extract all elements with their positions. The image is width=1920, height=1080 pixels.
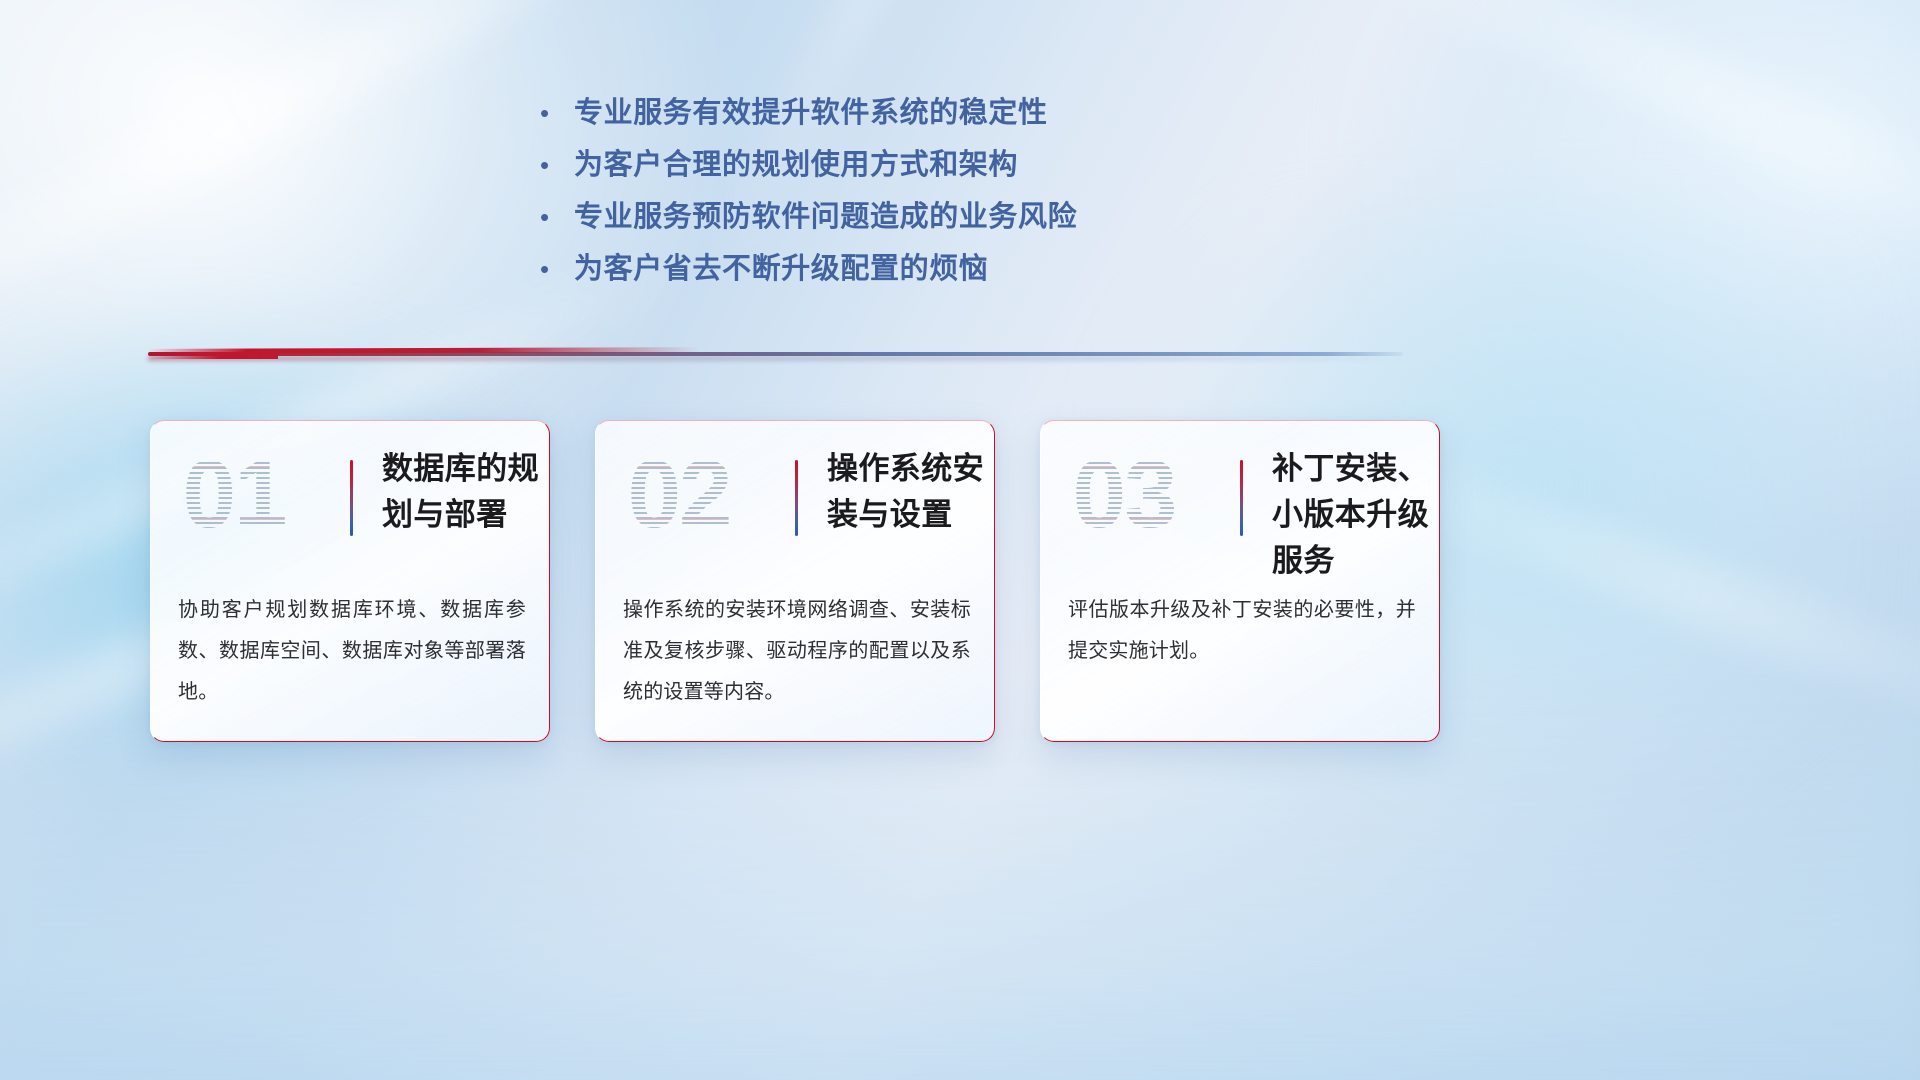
card-number-watermark: 01 01 [168,440,300,550]
bullet-marker-icon: • [540,90,574,136]
card-title: 数据库的规划与部署 [382,446,542,538]
card-description: 协助客户规划数据库环境、数据库参数、数据库空间、数据库对象等部署落地。 [178,590,526,713]
card-title-divider [350,460,353,536]
divider-shadow [148,356,1403,361]
list-item: • 专业服务有效提升软件系统的稳定性 [540,90,1360,142]
card-description: 操作系统的安装环境网络调查、安装标准及复核步骤、驱动程序的配置以及系统的设置等内… [623,590,971,713]
list-item-label: 为客户合理的规划使用方式和架构 [574,142,1018,188]
list-item: • 专业服务预防软件问题造成的业务风险 [540,194,1360,246]
service-card[interactable]: 03 03 补丁安装、小版本升级服务 评估版本升级及补丁安装的必要性，并提交实施… [1040,420,1440,742]
service-card-group: 01 01 数据库的规划与部署 协助客户规划数据库环境、数据库参数、数据库空间、… [150,420,1440,742]
service-card-surface: 02 02 操作系统安装与设置 操作系统的安装环境网络调查、安装标准及复核步骤、… [595,420,995,742]
service-card-header: 03 03 补丁安装、小版本升级服务 [1040,420,1440,580]
card-number-red-stripes: 02 [613,440,745,550]
card-title: 操作系统安装与设置 [827,446,987,538]
service-card-header: 01 01 数据库的规划与部署 [150,420,550,580]
list-item-label: 为客户省去不断升级配置的烦恼 [574,246,988,292]
card-number-watermark: 02 02 [613,440,745,550]
bullet-marker-icon: • [540,142,574,188]
bullet-marker-icon: • [540,246,574,292]
list-item-label: 专业服务预防软件问题造成的业务风险 [574,194,1077,240]
service-card-surface: 03 03 补丁安装、小版本升级服务 评估版本升级及补丁安装的必要性，并提交实施… [1040,420,1440,742]
card-title: 补丁安装、小版本升级服务 [1272,446,1432,584]
section-divider [148,348,1403,362]
bullet-marker-icon: • [540,194,574,240]
card-description: 评估版本升级及补丁安装的必要性，并提交实施计划。 [1068,590,1416,672]
card-title-divider [795,460,798,536]
list-item-label: 专业服务有效提升软件系统的稳定性 [574,90,1048,136]
card-number-red-stripes: 01 [168,440,300,550]
service-card-header: 02 02 操作系统安装与设置 [595,420,995,580]
service-card[interactable]: 01 01 数据库的规划与部署 协助客户规划数据库环境、数据库参数、数据库空间、… [150,420,550,742]
card-title-divider [1240,460,1243,536]
card-number-red-stripes: 03 [1058,440,1190,550]
card-number-watermark: 03 03 [1058,440,1190,550]
list-item: • 为客户省去不断升级配置的烦恼 [540,246,1360,298]
list-item: • 为客户合理的规划使用方式和架构 [540,142,1360,194]
benefits-bullet-list: • 专业服务有效提升软件系统的稳定性 • 为客户合理的规划使用方式和架构 • 专… [540,90,1360,298]
service-card-surface: 01 01 数据库的规划与部署 协助客户规划数据库环境、数据库参数、数据库空间、… [150,420,550,742]
service-card[interactable]: 02 02 操作系统安装与设置 操作系统的安装环境网络调查、安装标准及复核步骤、… [595,420,995,742]
